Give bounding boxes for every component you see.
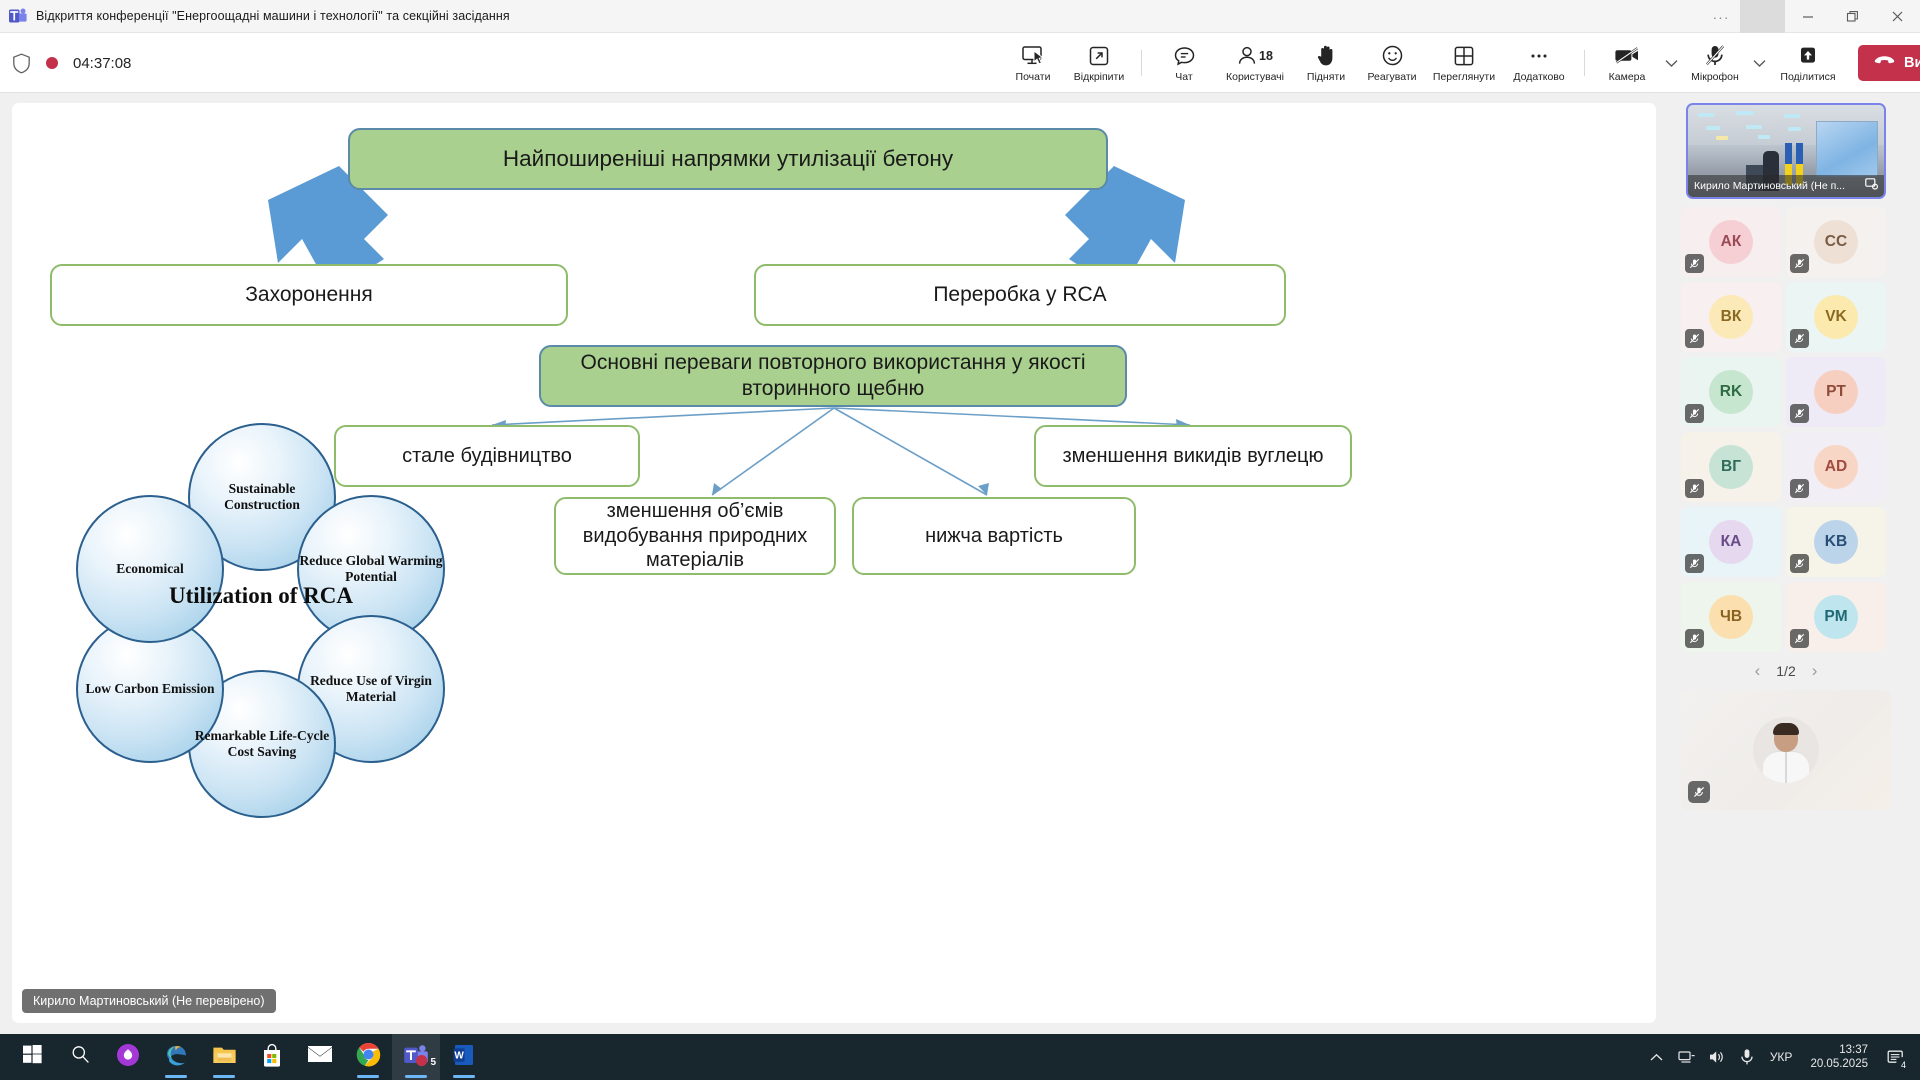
- teams-meeting-window: Відкриття конференції "Енергоощадні маши…: [0, 0, 1920, 1080]
- ceiling-lamp: [1788, 127, 1801, 131]
- toolbar-label: Відкріпити: [1074, 71, 1124, 83]
- rca-bubble-economical: Economical: [76, 495, 224, 643]
- rca-bubble-diagram: Sustainable Construction Reduce Global W…: [60, 423, 460, 818]
- svg-text:W: W: [454, 1050, 464, 1061]
- meeting-toolbar: 04:37:08 Почати: [0, 33, 1920, 93]
- mic-muted-icon: [1685, 629, 1704, 648]
- toolbar-label: Реагувати: [1367, 71, 1416, 83]
- mic-muted-icon: [1790, 404, 1809, 423]
- mic-muted-icon: [1790, 554, 1809, 573]
- mail-button[interactable]: [296, 1034, 344, 1080]
- pop-out-icon: [1088, 44, 1110, 68]
- toolbar-item-pop-out[interactable]: Відкріпити: [1066, 34, 1132, 92]
- view-grid-icon: [1453, 44, 1475, 68]
- mic-muted-icon: [1790, 629, 1809, 648]
- language-indicator[interactable]: УКР: [1762, 1050, 1801, 1064]
- toolbar-item-view[interactable]: Переглянути: [1425, 34, 1503, 92]
- toolbar-divider: [1141, 50, 1142, 76]
- avatar: ВГ: [1709, 445, 1753, 489]
- window-title: Відкриття конференції "Енергоощадні маши…: [36, 9, 510, 23]
- app-running-indicator: [357, 1075, 379, 1078]
- avatar-body: [1763, 751, 1809, 783]
- camera-chevron-down-icon[interactable]: [1660, 34, 1682, 92]
- screen-share-start-icon: [1021, 44, 1046, 68]
- app-running-indicator: [405, 1075, 427, 1078]
- word-icon: W: [453, 1043, 475, 1072]
- participants-rail: Кирило Мартиновський (Не п... АКCCВКVKRK…: [1664, 103, 1908, 1023]
- avatar: КА: [1709, 520, 1753, 564]
- advantage-label: зменшення викидів вуглецю: [1062, 444, 1323, 468]
- advantage-box-2: зменшення об’ємів видобування природних …: [554, 497, 836, 575]
- pager-next-button[interactable]: ›: [1812, 661, 1818, 681]
- participant-spotlight-tile[interactable]: [1681, 690, 1891, 810]
- rca-bubble-label: Remarkable Life-Cycle Cost Saving: [190, 728, 334, 759]
- ceiling-lamp: [1746, 125, 1762, 129]
- pager-prev-button[interactable]: ‹: [1755, 661, 1761, 681]
- microphone-chevron-down-icon[interactable]: [1748, 34, 1770, 92]
- participants-count: 18: [1259, 49, 1273, 63]
- participant-tile[interactable]: ВК: [1681, 282, 1781, 352]
- avatar: [1753, 717, 1819, 783]
- network-icon[interactable]: [1672, 1034, 1702, 1080]
- mic-muted-icon: [1685, 404, 1704, 423]
- avatar: ЧВ: [1709, 595, 1753, 639]
- toolbar-item-chat[interactable]: Чат: [1151, 34, 1217, 92]
- camera-off-icon: [1614, 44, 1641, 68]
- recording-status: 04:37:08: [12, 33, 131, 93]
- mic-muted-icon: [1790, 479, 1809, 498]
- participants-pager: ‹ 1/2 ›: [1681, 661, 1891, 681]
- share-screen-icon: [1796, 44, 1820, 68]
- participant-tile[interactable]: AD: [1786, 432, 1886, 502]
- restore-button[interactable]: [1830, 0, 1875, 33]
- avatar: CC: [1814, 220, 1858, 264]
- app-running-indicator: [213, 1075, 235, 1078]
- toolbar-actions: Почати Відкріпити: [1000, 33, 1920, 93]
- file-explorer-button[interactable]: [200, 1034, 248, 1080]
- ceiling-lamp: [1716, 136, 1728, 140]
- toolbar-item-microphone[interactable]: Мікрофон: [1682, 34, 1748, 92]
- toolbar-label: Камера: [1609, 71, 1646, 83]
- system-tray: УКР 13:37 20.05.2025 4: [1642, 1034, 1920, 1080]
- hangup-icon: [1874, 54, 1895, 72]
- cortana-icon: [116, 1043, 140, 1072]
- windows-logo-icon: [23, 1045, 42, 1069]
- advantage-label: нижча вартість: [925, 524, 1063, 548]
- leave-button-label: Вийти: [1904, 55, 1920, 71]
- clock-time: 13:37: [1839, 1043, 1868, 1057]
- participant-tile[interactable]: PT: [1786, 357, 1886, 427]
- ellipsis-icon: [1528, 44, 1550, 68]
- volume-icon[interactable]: [1702, 1034, 1732, 1080]
- pager-current: 1/2: [1776, 663, 1795, 679]
- window-title-bar: Відкриття конференції "Енергоощадні маши…: [0, 0, 1920, 33]
- avatar: RK: [1709, 370, 1753, 414]
- teams-icon: [9, 7, 27, 25]
- teams-badge-count: 5: [430, 1057, 436, 1068]
- chat-bubble-icon: [1173, 44, 1196, 68]
- participant-tile[interactable]: АК: [1681, 207, 1781, 277]
- branch-box-recycling: Переробка у RCA: [754, 264, 1286, 326]
- toolbar-label: Переглянути: [1433, 71, 1495, 83]
- participant-tile[interactable]: VK: [1786, 282, 1886, 352]
- mail-icon: [307, 1045, 333, 1069]
- projection-screen: [1816, 121, 1878, 177]
- clock-date: 20.05.2025: [1810, 1057, 1868, 1071]
- ceiling-lamp: [1784, 114, 1800, 118]
- avatar: KB: [1814, 520, 1858, 564]
- search-icon: [71, 1045, 90, 1069]
- self-video-name-bar: Кирило Мартиновський (Не п...: [1688, 175, 1884, 197]
- edge-icon: [164, 1042, 189, 1072]
- microphone-icon[interactable]: [1732, 1034, 1762, 1080]
- titlebar-more-button[interactable]: ···: [1702, 0, 1740, 33]
- advantage-box-4: зменшення викидів вуглецю: [1034, 425, 1352, 487]
- pin-video-icon[interactable]: [1865, 177, 1878, 195]
- shared-screen-stage[interactable]: Найпоширеніші напрямки утилізації бетону…: [12, 103, 1656, 1023]
- participant-tile[interactable]: PM: [1786, 582, 1886, 652]
- ceiling-lamp: [1698, 113, 1714, 117]
- edge-button[interactable]: [152, 1034, 200, 1080]
- cortana-button[interactable]: [104, 1034, 152, 1080]
- mic-muted-icon: [1688, 781, 1710, 803]
- folder-icon: [212, 1044, 237, 1071]
- rca-bubble-label: Reduce Global Warming Potential: [299, 553, 443, 584]
- clock[interactable]: 13:37 20.05.2025: [1800, 1043, 1878, 1072]
- avatar: VK: [1814, 295, 1858, 339]
- avatar: PT: [1814, 370, 1858, 414]
- branch-label: Переробка у RCA: [933, 282, 1106, 308]
- rca-bubble-label: Reduce Use of Virgin Material: [299, 673, 443, 704]
- self-video-name: Кирило Мартиновський (Не п...: [1694, 180, 1861, 192]
- search-button[interactable]: [56, 1034, 104, 1080]
- recording-timer: 04:37:08: [73, 55, 131, 72]
- rca-bubble-label: Economical: [116, 561, 184, 577]
- start-button[interactable]: [8, 1034, 56, 1080]
- toolbar-label: Мікрофон: [1691, 71, 1739, 83]
- raise-hand-icon: [1316, 44, 1336, 68]
- mic-muted-icon: [1685, 554, 1704, 573]
- app-running-indicator: [165, 1075, 187, 1078]
- toolbar-label: Підняти: [1307, 71, 1345, 83]
- slide-title-box: Найпоширеніші напрямки утилізації бетону: [348, 128, 1108, 190]
- app-running-indicator: [453, 1075, 475, 1078]
- toolbar-item-share[interactable]: Поділитися: [1770, 34, 1846, 92]
- toolbar-item-raise-hand[interactable]: Підняти: [1293, 34, 1359, 92]
- chrome-button[interactable]: [344, 1034, 392, 1080]
- toolbar-item-participants[interactable]: 18 Користувачі: [1217, 34, 1293, 92]
- toolbar-label: Чат: [1175, 71, 1192, 83]
- participant-tile[interactable]: KB: [1786, 507, 1886, 577]
- notifications-count: 4: [1896, 1057, 1911, 1072]
- avatar: PM: [1814, 595, 1858, 639]
- avatar: ВК: [1709, 295, 1753, 339]
- record-dot-icon: [43, 54, 61, 72]
- window-controls: ···: [1702, 0, 1920, 33]
- chrome-icon: [356, 1042, 381, 1072]
- toolbar-label: Додатково: [1513, 71, 1564, 83]
- advantage-box-3: нижча вартість: [852, 497, 1136, 575]
- self-video-tile[interactable]: Кирило Мартиновський (Не п...: [1686, 103, 1886, 199]
- avatar-hair: [1773, 723, 1799, 735]
- toolbar-item-camera[interactable]: Камера: [1594, 34, 1660, 92]
- participant-tile[interactable]: ВГ: [1681, 432, 1781, 502]
- rca-center-label: Utilization of RCA: [146, 583, 376, 608]
- word-button[interactable]: W: [440, 1034, 488, 1080]
- store-icon: [261, 1043, 283, 1072]
- avatar: AD: [1814, 445, 1858, 489]
- people-icon: 18: [1237, 44, 1273, 68]
- participant-tile[interactable]: КА: [1681, 507, 1781, 577]
- ceiling-lamp: [1758, 135, 1770, 139]
- microsoft-store-button[interactable]: [248, 1034, 296, 1080]
- close-button[interactable]: [1875, 0, 1920, 33]
- participant-tile[interactable]: RK: [1681, 357, 1781, 427]
- minimize-button[interactable]: [1785, 0, 1830, 33]
- leave-meeting-button[interactable]: Вийти: [1858, 45, 1920, 81]
- taskbar-apps: 5 W: [0, 1034, 488, 1080]
- emoji-smile-icon: [1381, 44, 1404, 68]
- toolbar-item-more[interactable]: Додатково: [1503, 34, 1575, 92]
- participant-tiles: АКCCВКVKRKPTВГADКАKBЧВPM: [1681, 207, 1891, 652]
- microsoft-teams-button[interactable]: 5: [392, 1034, 440, 1080]
- slide-title-text: Найпоширеніші напрямки утилізації бетону: [503, 145, 953, 172]
- toolbar-item-react[interactable]: Реагувати: [1359, 34, 1425, 92]
- tray-chevron-up-icon[interactable]: [1642, 1034, 1672, 1080]
- participant-tile[interactable]: CC: [1786, 207, 1886, 277]
- mic-muted-icon: [1790, 254, 1809, 273]
- mic-muted-icon: [1685, 329, 1704, 348]
- toolbar-label: Поділитися: [1780, 71, 1835, 83]
- rca-bubble-label: Low Carbon Emission: [85, 681, 214, 697]
- ceiling-lamp: [1736, 111, 1754, 115]
- toolbar-divider: [1584, 50, 1585, 76]
- mic-muted-icon: [1685, 254, 1704, 273]
- participant-tile[interactable]: ЧВ: [1681, 582, 1781, 652]
- windows-taskbar: 5 W: [0, 1034, 1920, 1080]
- advantages-title-text: Основні переваги повторного використання…: [567, 350, 1099, 401]
- ceiling-lamp: [1706, 126, 1720, 130]
- rca-bubble-label: Sustainable Construction: [190, 481, 334, 512]
- titlebar-separator: [1740, 0, 1785, 33]
- branch-label: Захоронення: [245, 282, 373, 308]
- shield-icon[interactable]: [12, 53, 31, 74]
- sharer-name-label: Кирило Мартиновський (Не перевірено): [22, 989, 276, 1013]
- toolbar-label: Почати: [1016, 71, 1051, 83]
- mic-muted-icon: [1685, 479, 1704, 498]
- notifications-button[interactable]: 4: [1878, 1034, 1912, 1080]
- advantage-label: зменшення об’ємів видобування природних …: [564, 499, 826, 572]
- toolbar-item-start-share[interactable]: Почати: [1000, 34, 1066, 92]
- avatar: АК: [1709, 220, 1753, 264]
- mic-off-icon: [1704, 44, 1726, 68]
- advantages-title-box: Основні переваги повторного використання…: [539, 345, 1127, 407]
- teams-icon: [403, 1043, 429, 1072]
- branch-box-landfill: Захоронення: [50, 264, 568, 326]
- mic-muted-icon: [1790, 329, 1809, 348]
- toolbar-label: Користувачі: [1226, 71, 1284, 83]
